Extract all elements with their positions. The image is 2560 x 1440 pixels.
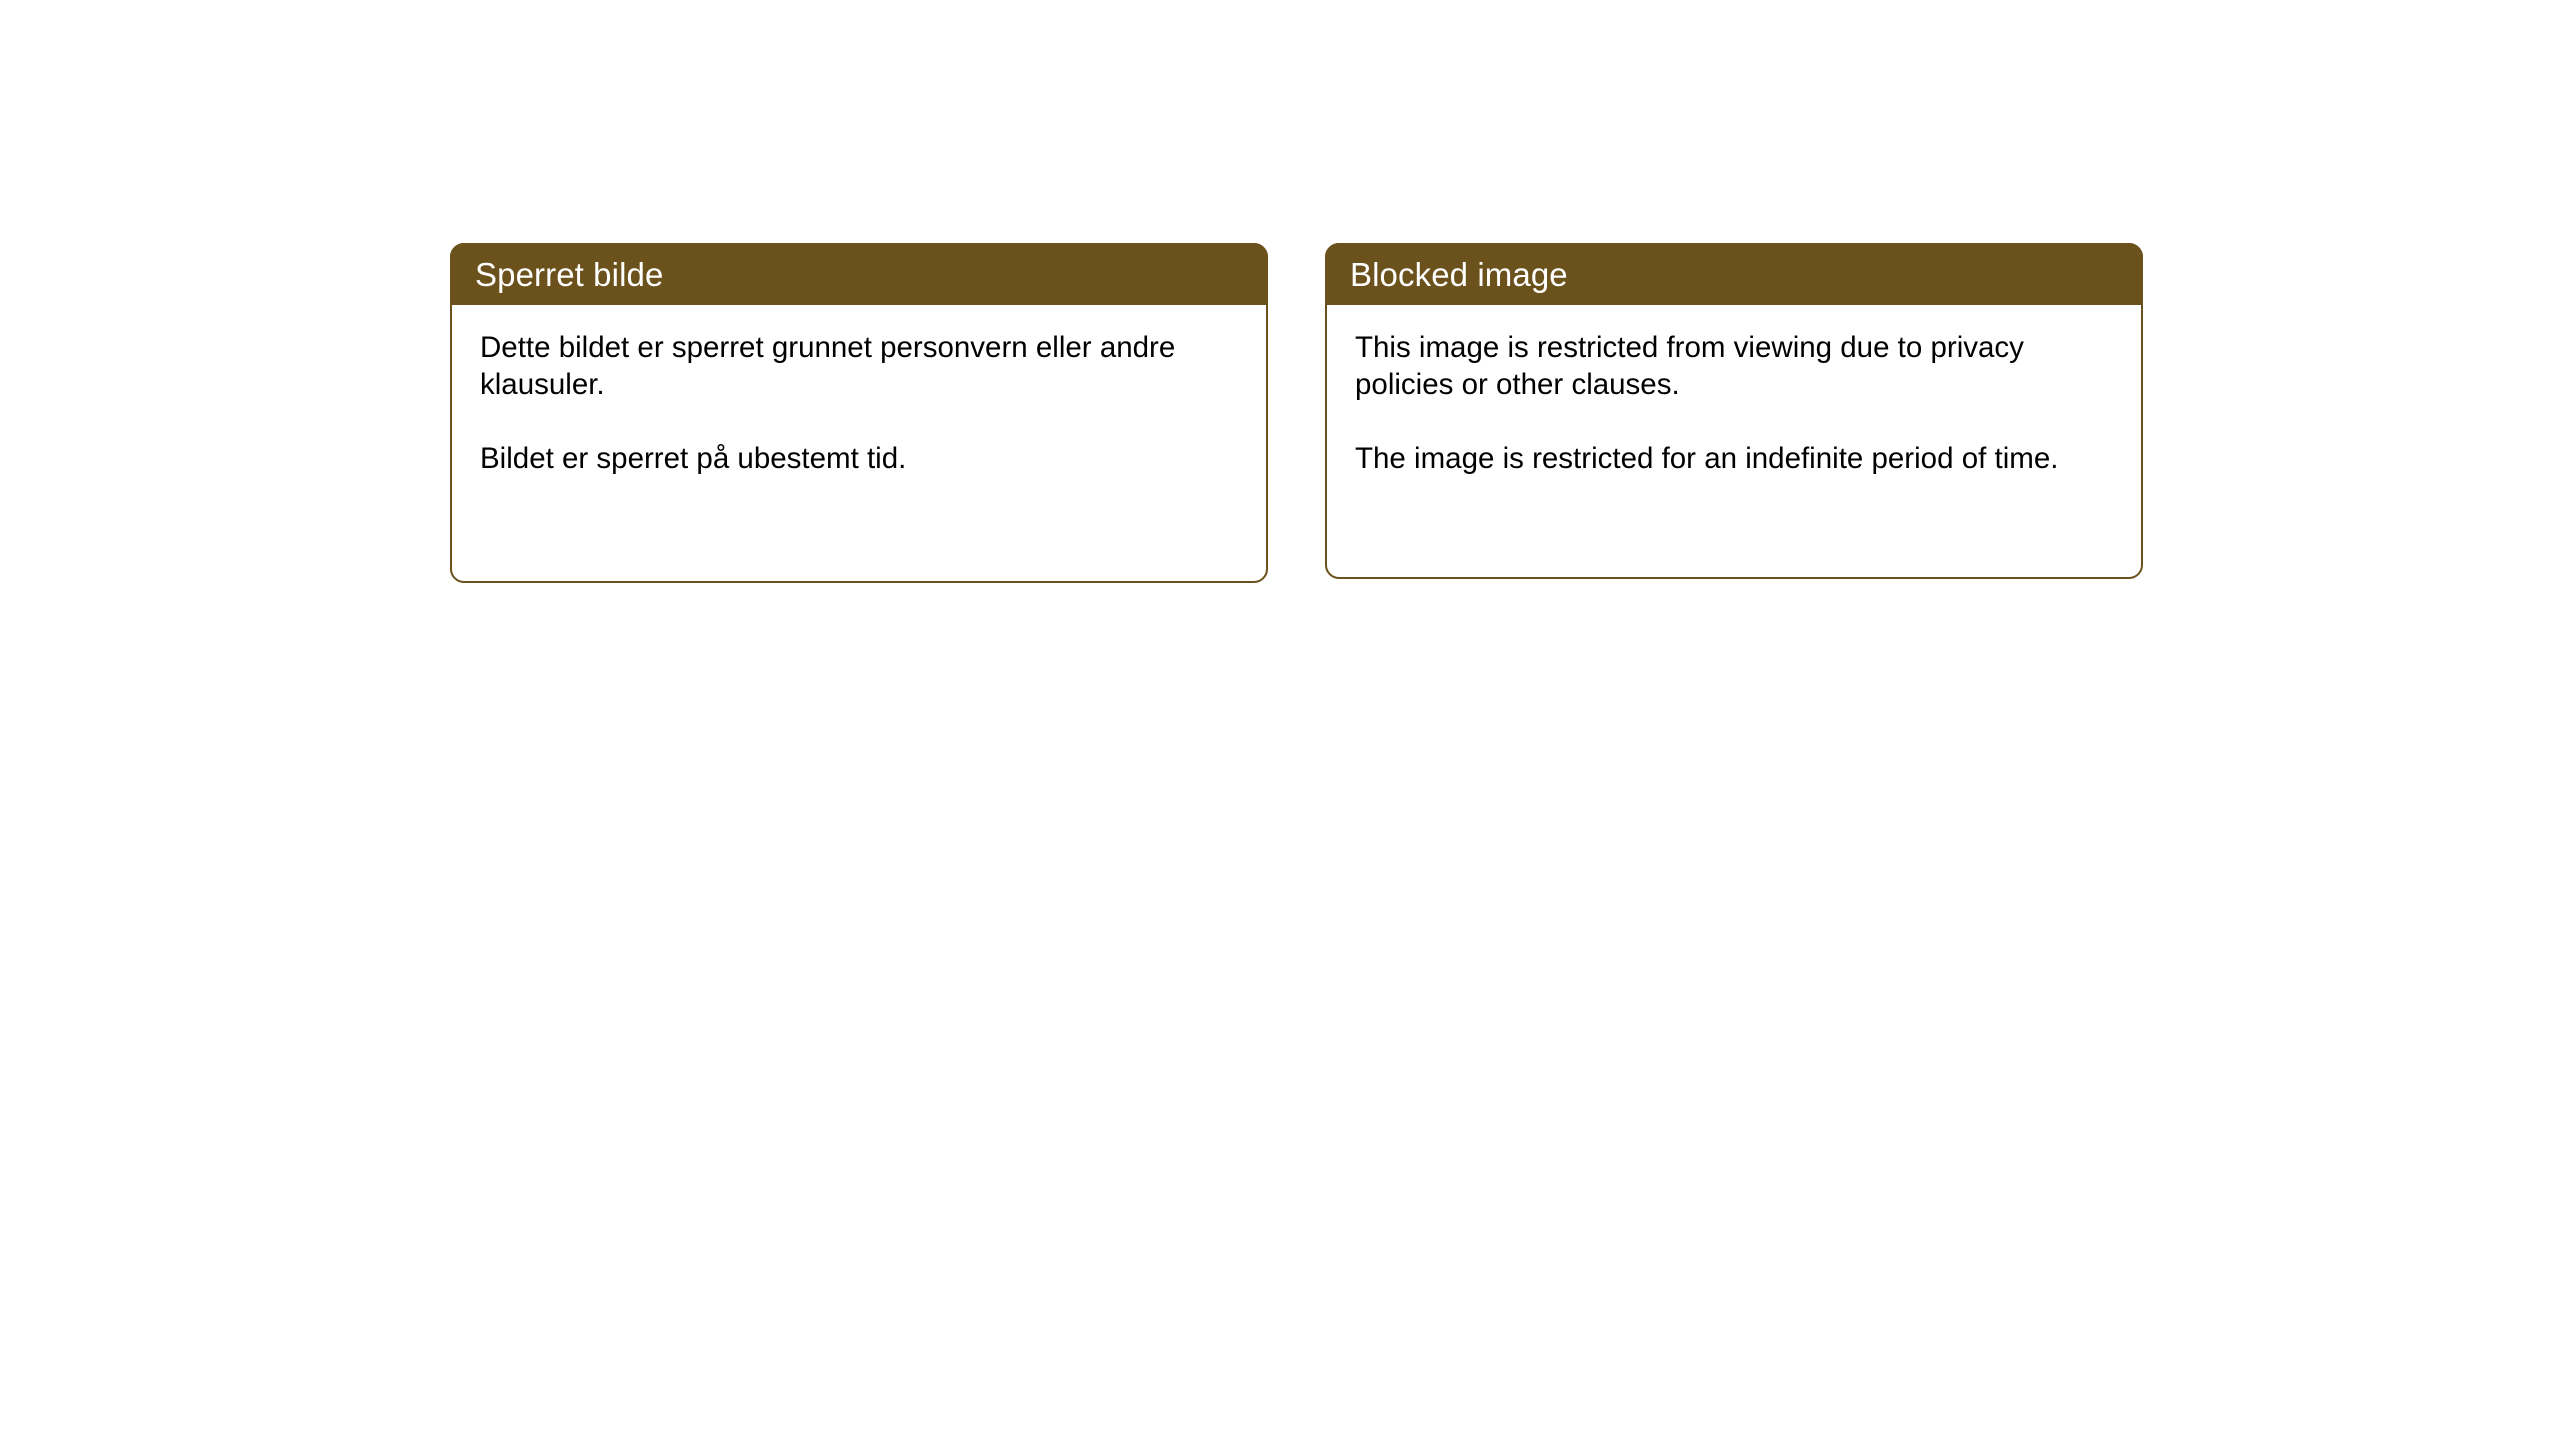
card-body: Dette bildet er sperret grunnet personve… <box>452 305 1266 477</box>
notice-stage: Sperret bilde Dette bildet er sperret gr… <box>0 0 2560 1440</box>
blocked-image-card-norwegian: Sperret bilde Dette bildet er sperret gr… <box>450 243 1268 583</box>
card-header: Blocked image <box>1325 243 2143 305</box>
blocked-image-card-english: Blocked image This image is restricted f… <box>1325 243 2143 579</box>
card-paragraph: Bildet er sperret på ubestemt tid. <box>480 440 1180 477</box>
card-paragraph: This image is restricted from viewing du… <box>1355 329 2085 403</box>
card-body: This image is restricted from viewing du… <box>1327 305 2141 477</box>
card-header: Sperret bilde <box>450 243 1268 305</box>
card-title: Blocked image <box>1325 258 1568 291</box>
card-paragraph: Dette bildet er sperret grunnet personve… <box>480 329 1180 403</box>
card-paragraph: The image is restricted for an indefinit… <box>1355 440 2085 477</box>
card-title: Sperret bilde <box>450 258 663 291</box>
